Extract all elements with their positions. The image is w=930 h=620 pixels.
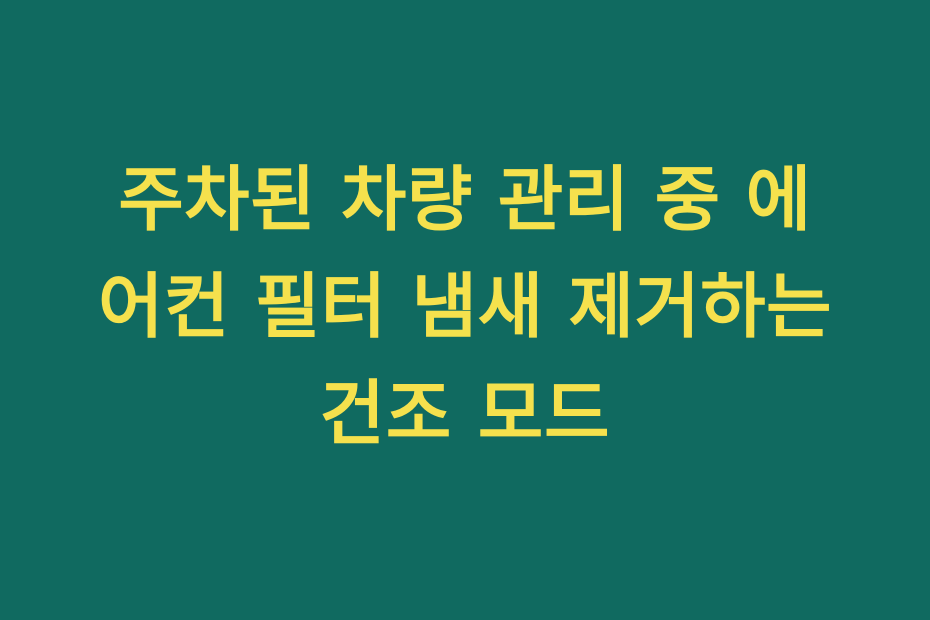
banner-background: 주차된 차량 관리 중 에 어컨 필터 냄새 제거하는 건조 모드 [0,0,930,620]
headline-line-3: 건조 모드 [46,360,884,467]
headline-line-1: 주차된 차량 관리 중 에 [46,146,884,253]
headline-line-2: 어컨 필터 냄새 제거하는 [46,253,884,360]
headline-text-block: 주차된 차량 관리 중 에 어컨 필터 냄새 제거하는 건조 모드 [0,146,930,467]
